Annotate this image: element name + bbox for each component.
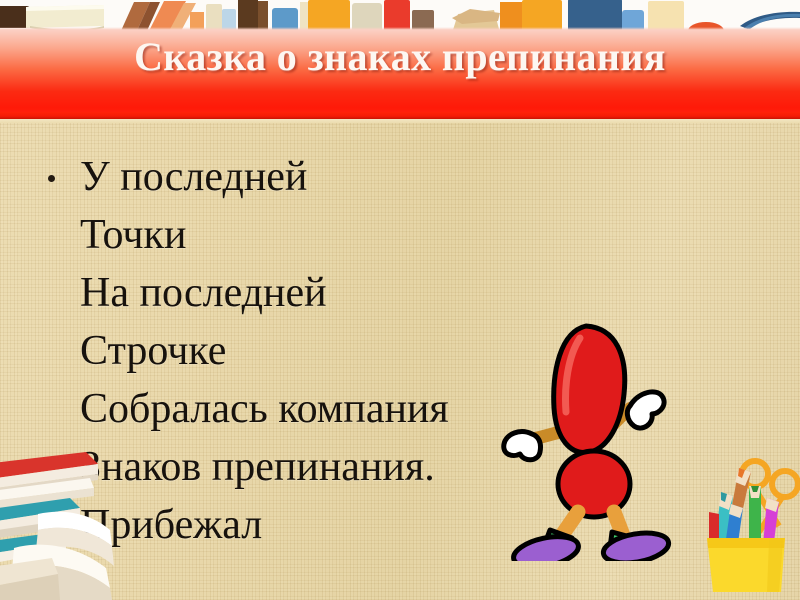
pencil-cup-svg — [693, 440, 800, 600]
book-stack-icon — [0, 448, 134, 600]
pencil-cup-icon — [693, 440, 800, 600]
exclamation-mark-svg — [498, 316, 688, 561]
exclamation-mark-character-icon — [498, 316, 688, 561]
poem-line: У последней — [44, 148, 744, 206]
presentation-slide: Сказка о знаках препинания У последней Т… — [0, 0, 800, 600]
poem-line: Точки — [44, 206, 744, 264]
banner-hairline — [0, 119, 800, 123]
book-stack-svg — [0, 448, 134, 600]
poem-line: На последней — [44, 264, 744, 322]
slide-title: Сказка о знаках препинания — [0, 33, 800, 80]
banner-bottom-edge — [0, 112, 800, 119]
